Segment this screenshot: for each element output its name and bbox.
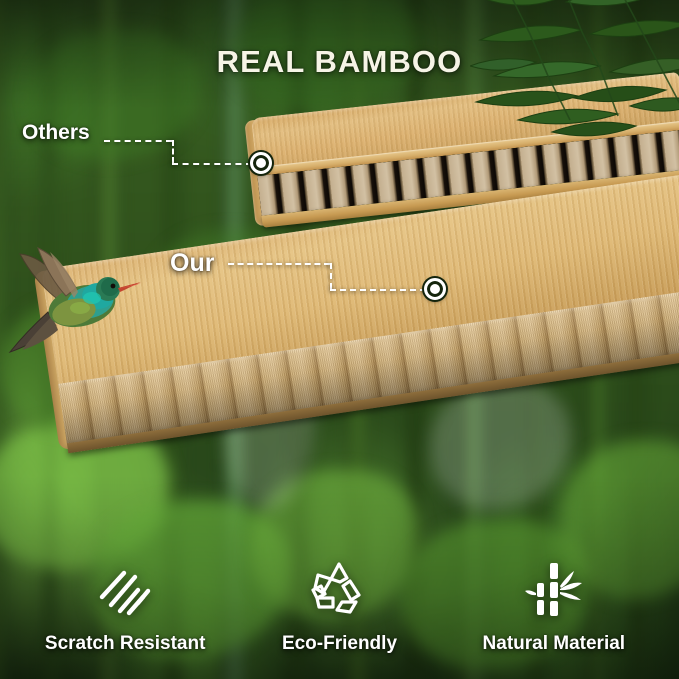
feature-natural-material: Natural Material bbox=[448, 557, 660, 655]
feature-label-scratch-resistant: Scratch Resistant bbox=[45, 633, 206, 655]
callout-marker-others[interactable] bbox=[250, 152, 272, 174]
feature-label-natural-material: Natural Material bbox=[483, 633, 626, 655]
callout-label-others: Others bbox=[22, 121, 90, 145]
callout-marker-our[interactable] bbox=[424, 278, 446, 300]
product-feature-image: REAL BAMBOO bbox=[0, 0, 679, 679]
feature-row: Scratch Resistant Eco-Friendly bbox=[0, 557, 679, 655]
bamboo-leaves-icon bbox=[470, 0, 679, 155]
bamboo-stalk-icon bbox=[524, 557, 584, 621]
feature-scratch-resistant: Scratch Resistant bbox=[19, 557, 231, 655]
feature-eco-friendly: Eco-Friendly bbox=[233, 557, 445, 655]
callout-label-our: Our bbox=[170, 249, 214, 278]
scratch-lines-icon bbox=[94, 557, 156, 621]
feature-label-eco-friendly: Eco-Friendly bbox=[282, 633, 397, 655]
hummingbird bbox=[4, 246, 142, 364]
recycle-icon bbox=[309, 557, 369, 621]
